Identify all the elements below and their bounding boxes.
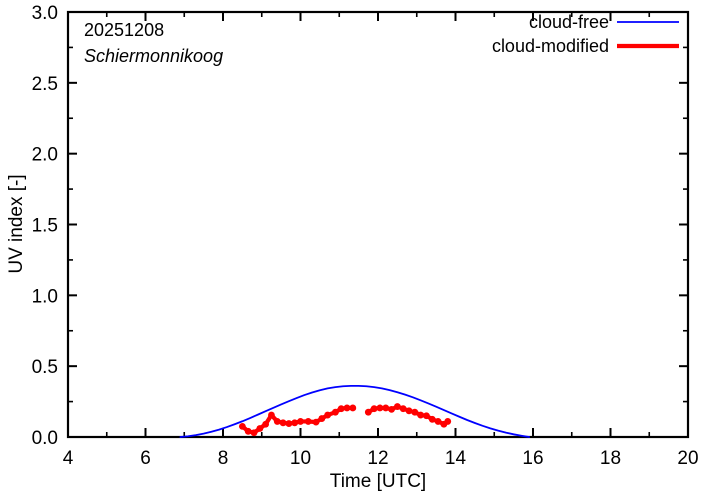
y-tick-label: 0.5 (32, 357, 58, 378)
x-axis-title: Time [UTC] (330, 471, 426, 492)
x-tick-label: 4 (63, 448, 74, 469)
series-marker-cloud-modified (268, 412, 275, 419)
series-marker-cloud-modified (324, 412, 331, 419)
x-tick-label: 14 (445, 448, 467, 469)
x-tick-label: 10 (290, 448, 311, 469)
series-marker-cloud-modified (262, 421, 269, 428)
series-marker-cloud-modified (256, 425, 263, 432)
series-marker-cloud-modified (305, 418, 312, 425)
series-marker-cloud-modified (291, 419, 298, 426)
series-layer (180, 386, 529, 437)
series-marker-cloud-modified (388, 406, 395, 413)
y-tick-label: 1.5 (32, 216, 58, 237)
series-marker-cloud-modified (394, 403, 401, 410)
series-marker-cloud-modified (423, 412, 430, 419)
series-marker-cloud-modified (344, 405, 351, 412)
series-marker-cloud-modified (444, 418, 451, 425)
series-marker-cloud-modified (318, 415, 325, 422)
x-tick-label: 18 (600, 448, 621, 469)
series-marker-cloud-modified (382, 405, 389, 412)
series-marker-cloud-modified (435, 418, 442, 425)
series-cloud-free (180, 386, 529, 437)
series-marker-cloud-modified (297, 418, 304, 425)
series-marker-cloud-modified (239, 423, 246, 430)
series-marker-cloud-modified (313, 419, 320, 426)
series-marker-cloud-modified (417, 412, 424, 419)
series-marker-cloud-modified (274, 418, 281, 425)
series-marker-cloud-modified (400, 405, 407, 412)
uv-index-chart: 468101214161820 0.00.51.01.52.02.53.0 Ti… (0, 0, 702, 497)
y-tick-label: 0.0 (32, 428, 58, 449)
annotation-date: 20251208 (84, 20, 164, 40)
series-marker-cloud-modified (406, 407, 413, 414)
chart-legend: cloud-free cloud-modified (492, 12, 679, 56)
series-marker-cloud-modified (280, 419, 287, 426)
legend-label-cloud-modified: cloud-modified (492, 36, 609, 56)
y-tick-label: 2.5 (32, 74, 58, 95)
x-axis-tick-labels: 468101214161820 (63, 448, 699, 469)
series-marker-cloud-modified (332, 409, 339, 416)
y-tick-label: 1.0 (32, 286, 58, 307)
series-marker-cloud-modified (371, 405, 378, 412)
series-marker-cloud-modified (285, 420, 292, 427)
series-marker-cloud-modified (251, 429, 258, 436)
x-axis-ticks (68, 12, 688, 437)
y-axis-title: UV index [-] (6, 174, 27, 273)
y-tick-label: 3.0 (32, 3, 58, 24)
series-marker-cloud-modified (411, 409, 418, 416)
series-marker-cloud-modified (338, 405, 345, 412)
series-marker-cloud-modified (429, 416, 436, 423)
plot-frame (68, 12, 688, 437)
series-marker-cloud-modified (365, 409, 372, 416)
series-marker-cloud-modified (377, 405, 384, 412)
x-tick-label: 12 (367, 448, 388, 469)
x-tick-label: 20 (677, 448, 698, 469)
y-tick-label: 2.0 (32, 145, 58, 166)
x-tick-label: 6 (140, 448, 151, 469)
x-tick-label: 8 (218, 448, 229, 469)
legend-label-cloud-free: cloud-free (529, 12, 609, 32)
y-axis-tick-labels: 0.00.51.01.52.02.53.0 (32, 3, 58, 449)
series-marker-cloud-modified (245, 428, 252, 435)
y-axis-ticks (68, 12, 688, 437)
chart-canvas: 468101214161820 0.00.51.01.52.02.53.0 Ti… (0, 0, 702, 497)
annotation-station: Schiermonnikoog (84, 46, 223, 66)
x-tick-label: 16 (522, 448, 543, 469)
series-marker-cloud-modified (349, 405, 356, 412)
